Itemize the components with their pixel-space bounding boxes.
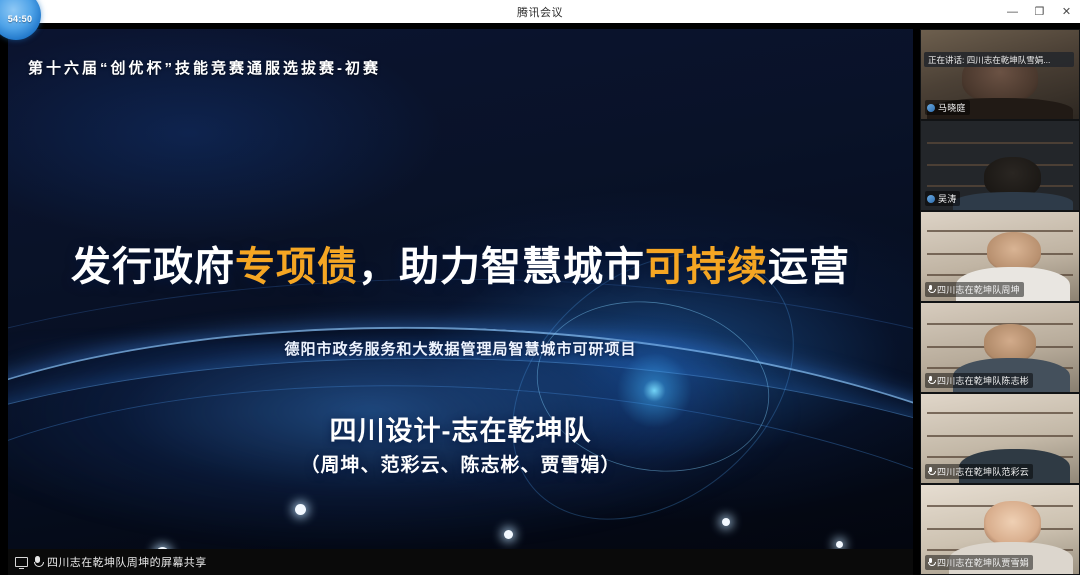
window-title: 腾讯会议: [517, 4, 563, 20]
participant-name-badge-2: 吴涛: [925, 191, 960, 206]
slide-title-part-5: 运营: [768, 245, 850, 289]
participant-name-6: 四川志在乾坤队贾雪娟: [937, 556, 1029, 569]
screen-share-status-bar: 四川志在乾坤队周坤的屏幕共享: [8, 549, 913, 575]
microphone-icon: [927, 558, 934, 567]
participant-name-3: 四川志在乾坤队周坤: [937, 283, 1020, 296]
slide-title-part-3: ，助力智慧城市: [358, 245, 645, 289]
slide-title-part-4-accent: 可持续: [645, 245, 768, 289]
participant-name-badge-1: 马晓庭: [925, 100, 970, 115]
screen-share-label: 四川志在乾坤队周坤的屏幕共享: [47, 554, 207, 570]
participant-tile-4[interactable]: 四川志在乾坤队陈志彬: [921, 303, 1079, 392]
participant-name-2: 吴涛: [938, 192, 956, 205]
meeting-timer-value: 54:50: [8, 14, 33, 24]
participant-tile-6[interactable]: 四川志在乾坤队贾雪娟: [921, 485, 1079, 574]
minimize-button[interactable]: —: [999, 0, 1026, 23]
title-bar: 腾讯会议 — ❐ ✕: [0, 0, 1080, 23]
participant-name-badge-4: 四川志在乾坤队陈志彬: [925, 373, 1033, 388]
slide-dot-4: [722, 518, 730, 526]
active-speaker-banner: 正在讲话: 四川志在乾坤队雪娟...: [924, 52, 1074, 67]
active-speaker-text: 正在讲话: 四川志在乾坤队雪娟...: [928, 54, 1050, 66]
presentation-slide: 第十六届“创优杯”技能竞赛通服选拔赛-初赛 发行政府专项债，助力智慧城市可持续运…: [8, 29, 913, 549]
participant-name-5: 四川志在乾坤队范彩云: [937, 465, 1029, 478]
participant-tile-1[interactable]: 正在讲话: 四川志在乾坤队雪娟... 马晓庭: [921, 30, 1079, 119]
microphone-icon: [927, 285, 934, 294]
slide-dot-3: [504, 530, 513, 539]
microphone-icon: [927, 467, 934, 476]
participant-name-4: 四川志在乾坤队陈志彬: [937, 374, 1029, 387]
participant-name-1: 马晓庭: [938, 101, 966, 114]
participant-name-badge-5: 四川志在乾坤队范彩云: [925, 464, 1033, 479]
slide-main-title: 发行政府专项债，助力智慧城市可持续运营: [8, 234, 913, 292]
tencent-meeting-window: 腾讯会议 — ❐ ✕ 54:50 第十六届“创优杯”技能竞赛通服选拔赛-初赛 发…: [0, 0, 1080, 575]
participant-tile-2[interactable]: 吴涛: [921, 121, 1079, 210]
avatar-icon: [927, 195, 935, 203]
slide-title-part-1: 发行政府: [71, 245, 235, 289]
participant-tile-3[interactable]: 四川志在乾坤队周坤: [921, 212, 1079, 301]
shared-screen-stage[interactable]: 第十六届“创优杯”技能竞赛通服选拔赛-初赛 发行政府专项债，助力智慧城市可持续运…: [8, 29, 913, 549]
microphone-icon: [927, 376, 934, 385]
slide-header-text: 第十六届“创优杯”技能竞赛通服选拔赛-初赛: [28, 57, 381, 78]
slide-team-members: （周坤、范彩云、陈志彬、贾雪娟）: [8, 450, 913, 477]
slide-subtitle: 德阳市政务服务和大数据管理局智慧城市可研项目: [8, 338, 913, 359]
participant-name-badge-6: 四川志在乾坤队贾雪娟: [925, 555, 1033, 570]
participant-rail[interactable]: 正在讲话: 四川志在乾坤队雪娟... 马晓庭 吴涛: [920, 29, 1080, 575]
participant-tile-5[interactable]: 四川志在乾坤队范彩云: [921, 394, 1079, 483]
microphone-icon: [32, 556, 43, 569]
close-button[interactable]: ✕: [1053, 0, 1080, 23]
slide-dot-5: [836, 541, 843, 548]
slide-team-name: 四川设计-志在乾坤队: [8, 409, 913, 448]
slide-title-part-2-accent: 专项债: [235, 245, 358, 289]
slide-dot-2: [295, 504, 306, 515]
window-controls: — ❐ ✕: [999, 0, 1080, 23]
restore-button[interactable]: ❐: [1026, 0, 1053, 23]
participant-name-badge-3: 四川志在乾坤队周坤: [925, 282, 1024, 297]
avatar-icon: [927, 104, 935, 112]
screen-share-icon: [15, 557, 28, 567]
